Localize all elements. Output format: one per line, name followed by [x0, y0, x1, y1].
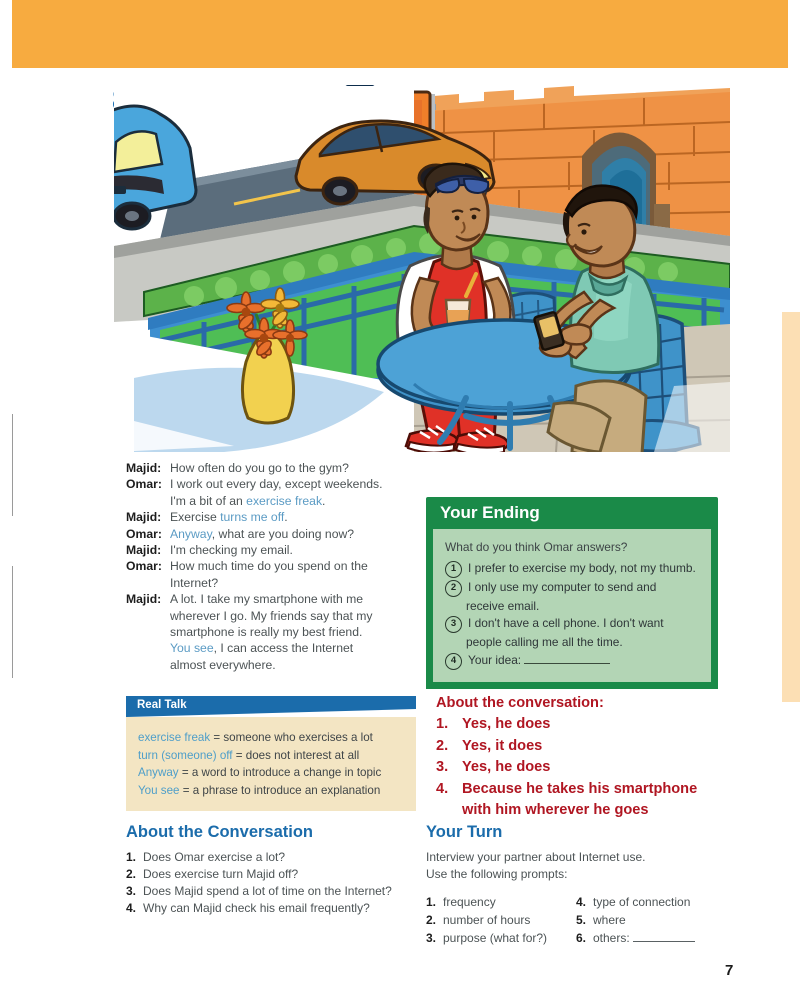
dialogue-line: I'm a bit of an exercise freak.	[126, 493, 418, 509]
your-turn-intro-line-1: Interview your partner about Internet us…	[426, 849, 726, 866]
option-number-circle: 3	[445, 616, 462, 633]
dialogue-line: wherever I go. My friends say that my	[126, 608, 418, 624]
dialogue-speaker	[126, 493, 170, 509]
your-ending-shell: What do you think Omar answers? 1I prefe…	[426, 529, 718, 689]
prompt-number: 1.	[426, 893, 443, 911]
ending-option[interactable]: 1I prefer to exercise my body, not my th…	[445, 560, 700, 578]
prompt-number: 4.	[576, 893, 593, 911]
dialogue-speaker: Majid:	[126, 509, 170, 525]
prompt-text: frequency	[443, 893, 496, 911]
question-number: 1.	[126, 849, 143, 866]
idiom-phrase: turns me off	[220, 510, 284, 524]
dialogue-line: Omar:I work out every day, except weeken…	[126, 476, 418, 492]
option-number-circle: 2	[445, 580, 462, 597]
dialogue-span: I work out every day, except weekends.	[170, 477, 382, 491]
your-turn-prompt-grid: 1.frequency2.number of hours3.purpose (w…	[426, 893, 726, 947]
ending-option[interactable]: 2I only use my computer to send andrecei…	[445, 579, 700, 614]
cafe-scene-illustration	[114, 86, 730, 452]
question-text: Why can Majid check his email frequently…	[143, 900, 370, 917]
ending-option-text: I prefer to exercise my body, not my thu…	[468, 560, 700, 578]
dialogue-span: How often do you go to the gym?	[170, 461, 349, 475]
textbook-page: 8 Conversation ?	[0, 0, 800, 1006]
real-talk-box: Real Talk exercise freak = someone who e…	[126, 696, 416, 811]
real-talk-body: exercise freak = someone who exercises a…	[126, 717, 416, 811]
your-ending-box: Your Ending What do you think Omar answe…	[426, 497, 718, 689]
real-talk-term: You see	[138, 784, 179, 797]
write-in-blank[interactable]	[633, 941, 695, 942]
dialogue-line: Majid:I'm checking my email.	[126, 542, 418, 558]
your-ending-body: What do you think Omar answers? 1I prefe…	[433, 529, 711, 682]
your-turn-prompts-left: 1.frequency2.number of hours3.purpose (w…	[426, 893, 576, 947]
dialogue-text: Internet?	[170, 575, 418, 591]
your-turn-prompt: 5.where	[576, 911, 726, 929]
answer-row: 1.Yes, he does	[436, 714, 736, 736]
dialogue-line: Internet?	[126, 575, 418, 591]
answer-number: 2.	[436, 736, 462, 758]
dialogue-speaker: Omar:	[126, 558, 170, 574]
dialogue-line: You see, I can access the Internet	[126, 640, 418, 656]
dialogue-text: I work out every day, except weekends.	[170, 476, 418, 492]
your-ending-prompt: What do you think Omar answers?	[445, 539, 700, 555]
answer-text: Because he takes his smartphone	[462, 779, 697, 801]
question-text: Does exercise turn Majid off?	[143, 866, 298, 883]
your-turn-prompt: 1.frequency	[426, 893, 576, 911]
dialogue-line: Majid:A lot. I take my smartphone with m…	[126, 591, 418, 607]
dialogue-span: smartphone is really my best friend.	[170, 625, 362, 639]
your-turn-prompt: 6.others:	[576, 929, 726, 947]
prompt-text: purpose (what for?)	[443, 929, 547, 947]
about-question: 2.Does exercise turn Majid off?	[126, 866, 426, 883]
dialogue-text: How much time do you spend on the	[170, 558, 418, 574]
dialogue-span: Exercise	[170, 510, 220, 524]
page-number: 7	[725, 962, 733, 979]
real-talk-definition: = does not interest at all	[233, 749, 360, 762]
your-turn-title: Your Turn	[426, 823, 726, 842]
real-talk-entry: turn (someone) off = does not interest a…	[138, 747, 404, 765]
real-talk-entry: exercise freak = someone who exercises a…	[138, 729, 404, 747]
real-talk-definition: = a phrase to introduce an explanation	[179, 784, 380, 797]
question-text: Does Omar exercise a lot?	[143, 849, 285, 866]
answer-text: Yes, he does	[462, 714, 550, 736]
prompt-number: 5.	[576, 911, 593, 929]
dialogue-text: smartphone is really my best friend.	[170, 624, 418, 640]
dialogue-line: smartphone is really my best friend.	[126, 624, 418, 640]
ending-option-first-line: 1I prefer to exercise my body, not my th…	[445, 560, 700, 578]
prompt-text: others:	[593, 929, 695, 947]
real-talk-term: Anyway	[138, 766, 179, 779]
conversation-dialogue: Majid:How often do you go to the gym?Oma…	[126, 460, 418, 673]
ending-option-first-line: 4Your idea:	[445, 652, 700, 670]
dialogue-line: Majid:Exercise turns me off.	[126, 509, 418, 525]
option-number-circle: 4	[445, 653, 462, 670]
dialogue-span: I'm a bit of an	[170, 494, 246, 508]
real-talk-entry: You see = a phrase to introduce an expla…	[138, 782, 404, 800]
prompt-text: number of hours	[443, 911, 530, 929]
about-the-conversation-section: About the Conversation 1.Does Omar exerc…	[126, 823, 426, 917]
real-talk-term: exercise freak	[138, 731, 210, 744]
question-text: Does Majid spend a lot of time on the In…	[143, 883, 392, 900]
dialogue-span: I'm checking my email.	[170, 543, 293, 557]
idiom-phrase: You see	[170, 641, 214, 655]
dialogue-span: .	[284, 510, 287, 524]
real-talk-definition: = someone who exercises a lot	[210, 731, 373, 744]
your-turn-section: Your Turn Interview your partner about I…	[426, 823, 726, 947]
your-turn-prompt: 2.number of hours	[426, 911, 576, 929]
answer-row: 4.Because he takes his smartphone	[436, 779, 736, 801]
dialogue-speaker	[126, 657, 170, 673]
answer-text: Yes, it does	[462, 736, 542, 758]
option-number-circle: 1	[445, 561, 462, 578]
real-talk-header: Real Talk	[126, 696, 416, 717]
dialogue-text: How often do you go to the gym?	[170, 460, 418, 476]
your-turn-prompt: 3.purpose (what for?)	[426, 929, 576, 947]
dialogue-speaker	[126, 640, 170, 656]
dialogue-speaker: Omar:	[126, 476, 170, 492]
dialogue-speaker: Majid:	[126, 542, 170, 558]
ending-option[interactable]: 3I don't have a cell phone. I don't want…	[445, 615, 700, 650]
prompt-number: 2.	[426, 911, 443, 929]
left-margin-rule-top	[12, 414, 13, 516]
dialogue-speaker	[126, 575, 170, 591]
top-orange-band	[12, 0, 788, 68]
dialogue-span: almost everywhere.	[170, 658, 276, 672]
dialogue-speaker: Majid:	[126, 591, 170, 607]
dialogue-span: Internet?	[170, 576, 218, 590]
idiom-phrase: Anyway	[170, 527, 212, 541]
answer-key-title: About the conversation:	[436, 693, 736, 714]
prompt-number: 6.	[576, 929, 593, 947]
prompt-text: type of connection	[593, 893, 690, 911]
dialogue-text: Anyway, what are you doing now?	[170, 526, 418, 542]
ending-option-text: I only use my computer to send and	[468, 579, 700, 597]
dialogue-span: A lot. I take my smartphone with me	[170, 592, 363, 606]
ending-option-text: I don't have a cell phone. I don't want	[468, 615, 700, 633]
idiom-phrase: exercise freak	[246, 494, 322, 508]
answer-text: Yes, he does	[462, 757, 550, 779]
dialogue-text: wherever I go. My friends say that my	[170, 608, 418, 624]
answer-number: 1.	[436, 714, 462, 736]
real-talk-term: turn (someone) off	[138, 749, 233, 762]
question-number: 4.	[126, 900, 143, 917]
answer-row: 3.Yes, he does	[436, 757, 736, 779]
dialogue-span: .	[322, 494, 325, 508]
dialogue-text: Exercise turns me off.	[170, 509, 418, 525]
dialogue-text: I'm a bit of an exercise freak.	[170, 493, 418, 509]
your-turn-prompt: 4.type of connection	[576, 893, 726, 911]
left-margin-rule-bottom	[12, 566, 13, 678]
your-turn-intro-line-2: Use the following prompts:	[426, 866, 726, 883]
ending-option[interactable]: 4Your idea:	[445, 652, 700, 670]
ending-option-continuation: receive email.	[445, 598, 700, 614]
dialogue-span: wherever I go. My friends say that my	[170, 609, 373, 623]
your-ending-header: Your Ending	[426, 497, 718, 529]
question-number: 2.	[126, 866, 143, 883]
ending-option-first-line: 3I don't have a cell phone. I don't want	[445, 615, 700, 633]
dialogue-line: Omar:How much time do you spend on the	[126, 558, 418, 574]
about-conversation-title: About the Conversation	[126, 823, 426, 842]
dialogue-line: Majid:How often do you go to the gym?	[126, 460, 418, 476]
real-talk-definition: = a word to introduce a change in topic	[179, 766, 382, 779]
dialogue-text: almost everywhere.	[170, 657, 418, 673]
real-talk-title: Real Talk	[137, 699, 187, 711]
ending-option-first-line: 2I only use my computer to send and	[445, 579, 700, 597]
about-question: 1.Does Omar exercise a lot?	[126, 849, 426, 866]
dialogue-text: I'm checking my email.	[170, 542, 418, 558]
ending-option-continuation: people calling me all the time.	[445, 634, 700, 650]
dialogue-span: How much time do you spend on the	[170, 559, 368, 573]
dialogue-line: Omar:Anyway, what are you doing now?	[126, 526, 418, 542]
dialogue-speaker	[126, 608, 170, 624]
dialogue-speaker	[126, 624, 170, 640]
dialogue-line: almost everywhere.	[126, 657, 418, 673]
your-ending-title: Your Ending	[440, 503, 540, 523]
ending-option-text: Your idea:	[468, 652, 700, 670]
about-question: 4.Why can Majid check his email frequent…	[126, 900, 426, 917]
answer-continuation: with him wherever he goes	[436, 800, 736, 822]
answer-number: 4.	[436, 779, 462, 801]
your-turn-prompts-right: 4.type of connection5.where6.others:	[576, 893, 726, 947]
dialogue-span: , I can access the Internet	[214, 641, 354, 655]
write-in-blank[interactable]	[524, 663, 610, 664]
answer-number: 3.	[436, 757, 462, 779]
question-number: 3.	[126, 883, 143, 900]
prompt-text: where	[593, 911, 626, 929]
answer-row: 2.Yes, it does	[436, 736, 736, 758]
dialogue-text: You see, I can access the Internet	[170, 640, 418, 656]
real-talk-entry: Anyway = a word to introduce a change in…	[138, 764, 404, 782]
right-edge-tab	[782, 312, 800, 702]
dialogue-text: A lot. I take my smartphone with me	[170, 591, 418, 607]
dialogue-span: , what are you doing now?	[212, 527, 354, 541]
prompt-number: 3.	[426, 929, 443, 947]
about-question: 3.Does Majid spend a lot of time on the …	[126, 883, 426, 900]
dialogue-speaker: Majid:	[126, 460, 170, 476]
dialogue-speaker: Omar:	[126, 526, 170, 542]
handwritten-answer-key: About the conversation: 1.Yes, he does2.…	[436, 693, 736, 822]
